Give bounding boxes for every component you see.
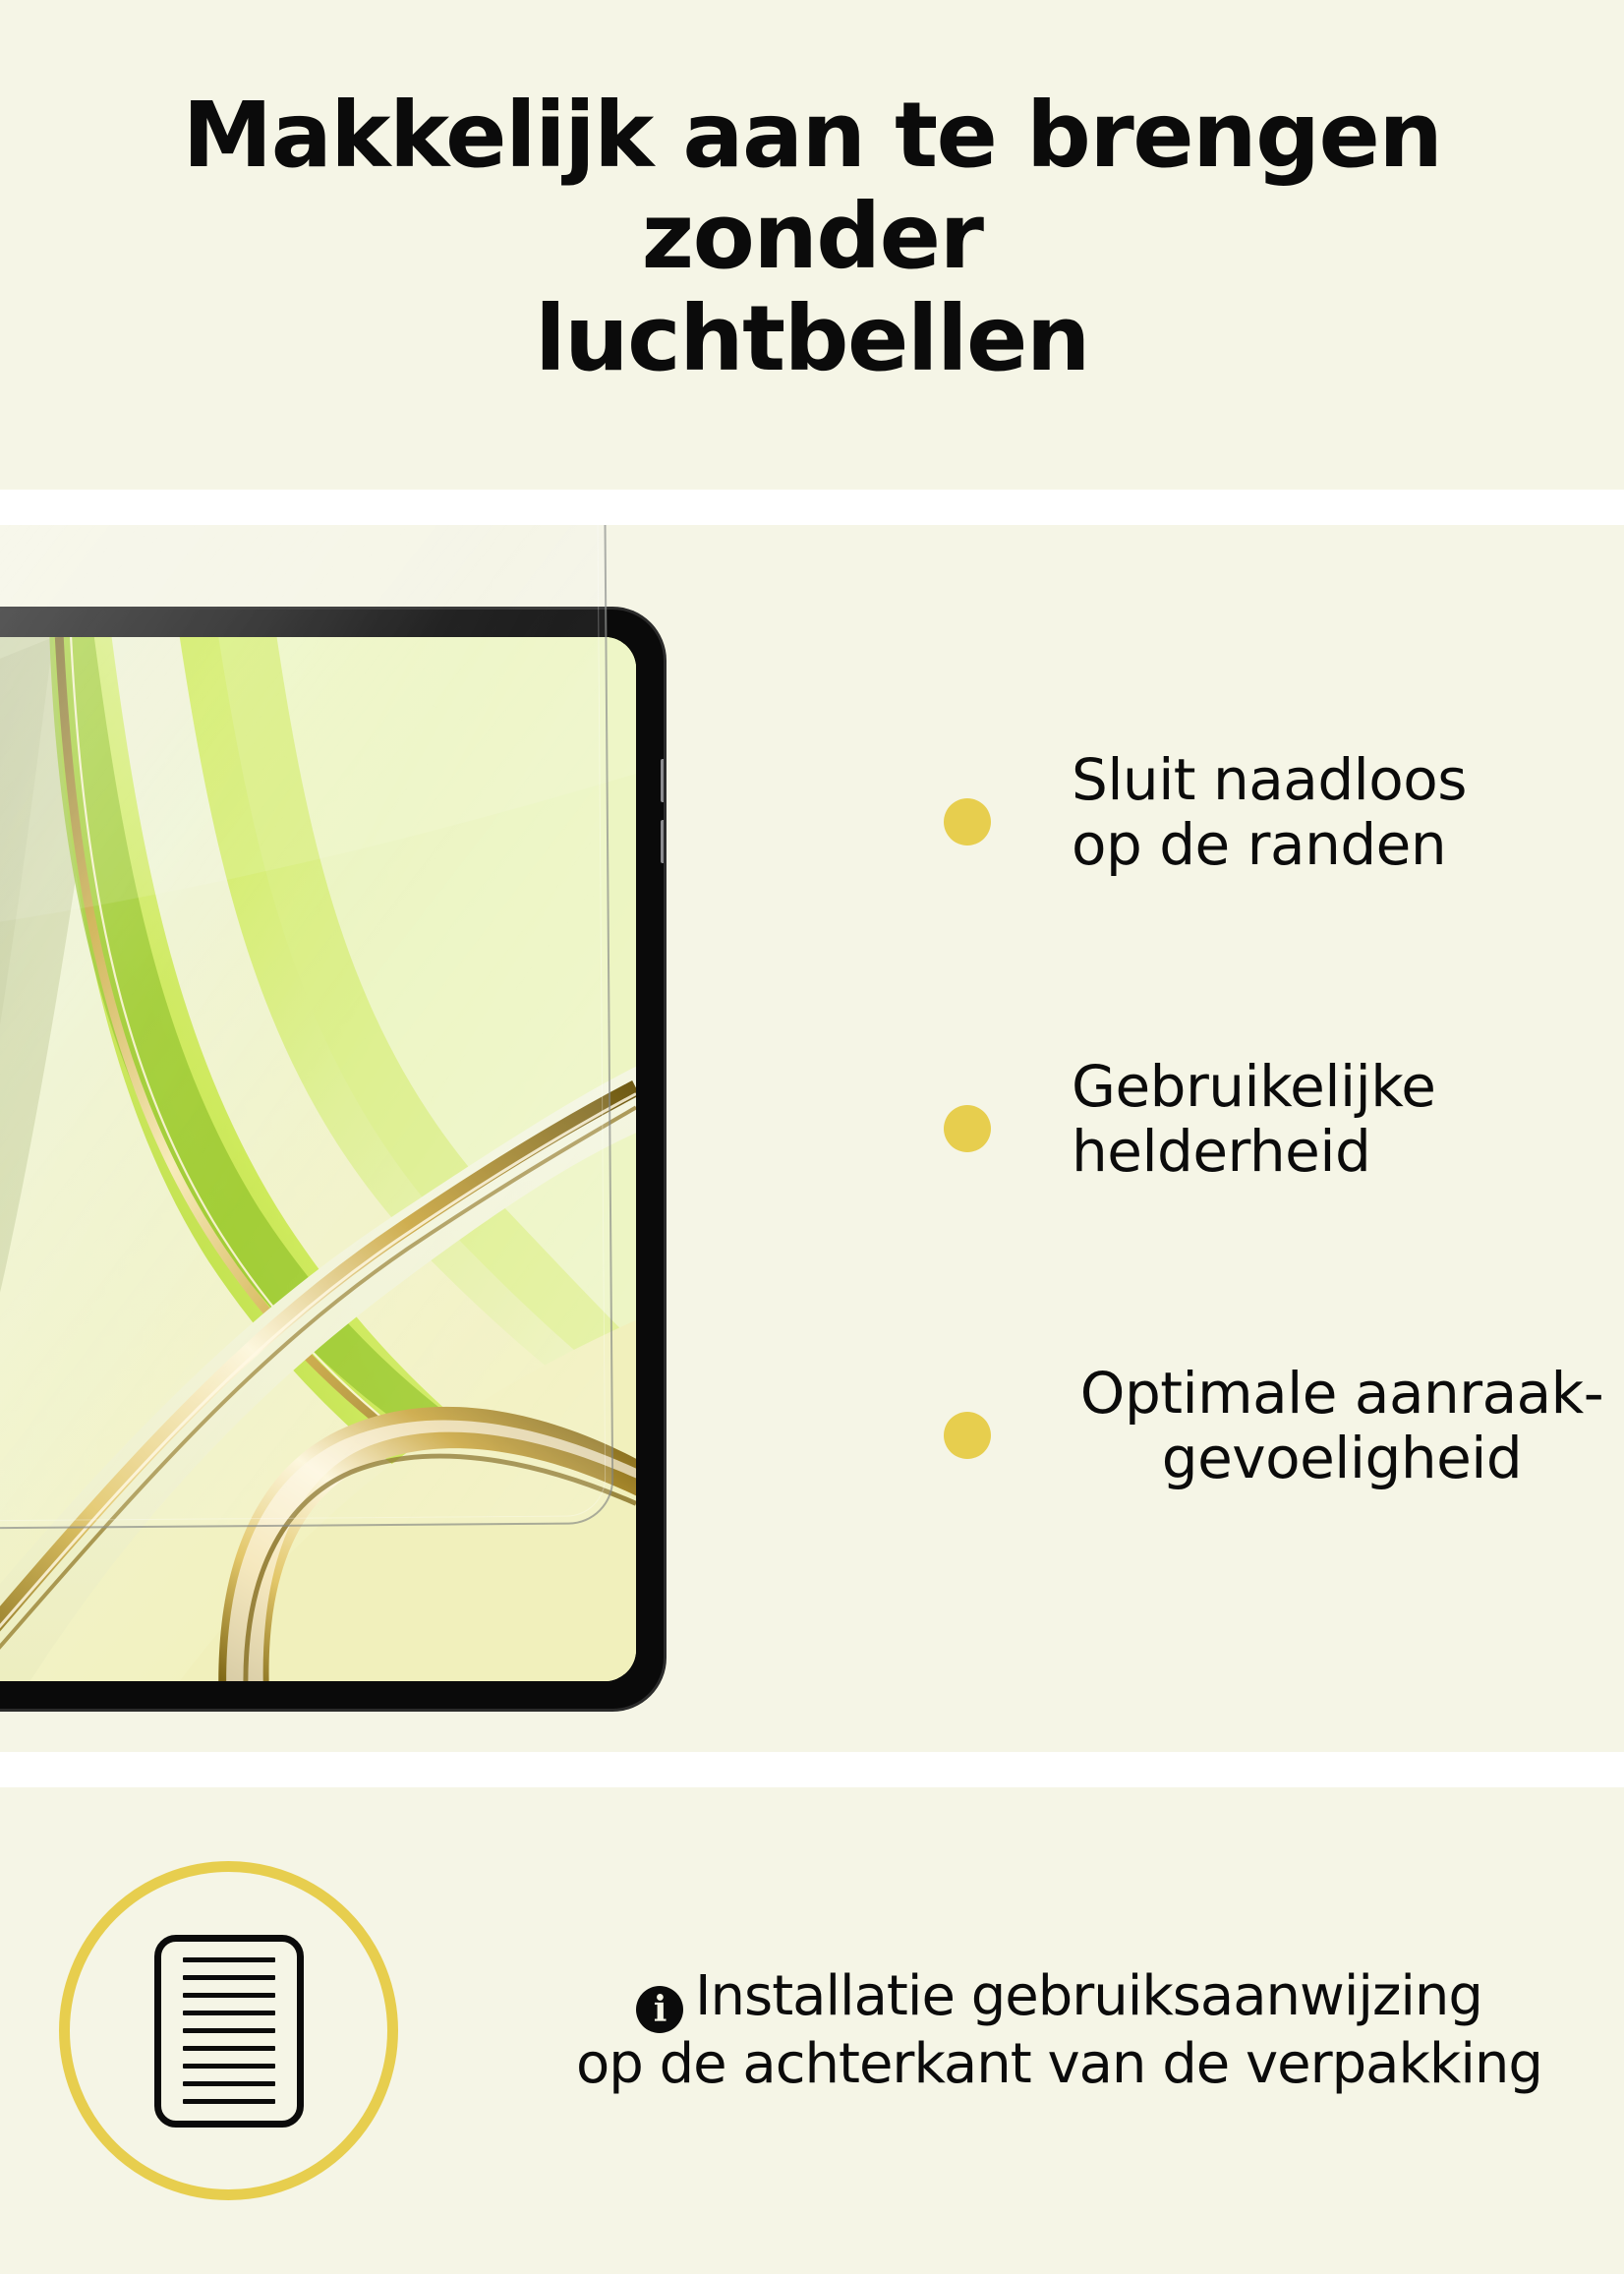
document-badge: [59, 1861, 398, 2200]
infographic-page: Makkelijk aan te brengen zonder luchtbel…: [0, 0, 1624, 2274]
doc-line: [183, 1975, 275, 1980]
divider-bottom: [0, 1752, 1624, 1787]
doc-line: [183, 2046, 275, 2051]
tablet-screen: [0, 637, 636, 1681]
volume-up-button[interactable]: [661, 759, 664, 802]
volume-down-button[interactable]: [661, 820, 664, 863]
info-icon: i: [636, 1986, 683, 2033]
footer-note: iInstallatie gebruiksaanwijzing op de ac…: [455, 1965, 1624, 2097]
feature-label: Optimale aanraak- gevoeligheid: [1052, 1361, 1624, 1490]
doc-line: [183, 2011, 275, 2015]
divider-top: [0, 490, 1624, 525]
bullet-dot-icon: [944, 1105, 991, 1152]
footer-line-1: Installatie gebruiksaanwijzing: [695, 1964, 1482, 2028]
list-item: Sluit naadloos op de randen: [944, 747, 1624, 897]
doc-line: [183, 2081, 275, 2086]
doc-line: [183, 2028, 275, 2033]
document-icon: [154, 1935, 304, 2128]
page-title: Makkelijk aan te brengen zonder luchtbel…: [0, 85, 1624, 388]
feature-label: Sluit naadloos op de randen: [1072, 747, 1624, 877]
tablet-device: [0, 610, 664, 1709]
header-section: Makkelijk aan te brengen zonder luchtbel…: [0, 0, 1624, 490]
list-item: Gebruikelijke helderheid: [944, 1054, 1624, 1203]
feature-list: Sluit naadloos op de randen Gebruikelijk…: [944, 747, 1624, 1510]
list-item: Optimale aanraak- gevoeligheid: [944, 1361, 1624, 1510]
doc-line: [183, 1993, 275, 1998]
footer-section: iInstallatie gebruiksaanwijzing op de ac…: [0, 1787, 1624, 2274]
feature-label: Gebruikelijke helderheid: [1072, 1054, 1624, 1184]
doc-line: [183, 2099, 275, 2104]
footer-line-2: op de achterkant van de verpakking: [455, 2033, 1624, 2097]
product-section: Sluit naadloos op de randen Gebruikelijk…: [0, 525, 1624, 1752]
wallpaper-artwork: [0, 637, 636, 1681]
bullet-dot-icon: [944, 1412, 991, 1459]
bullet-dot-icon: [944, 798, 991, 845]
doc-line: [183, 2064, 275, 2069]
doc-line: [183, 1957, 275, 1962]
